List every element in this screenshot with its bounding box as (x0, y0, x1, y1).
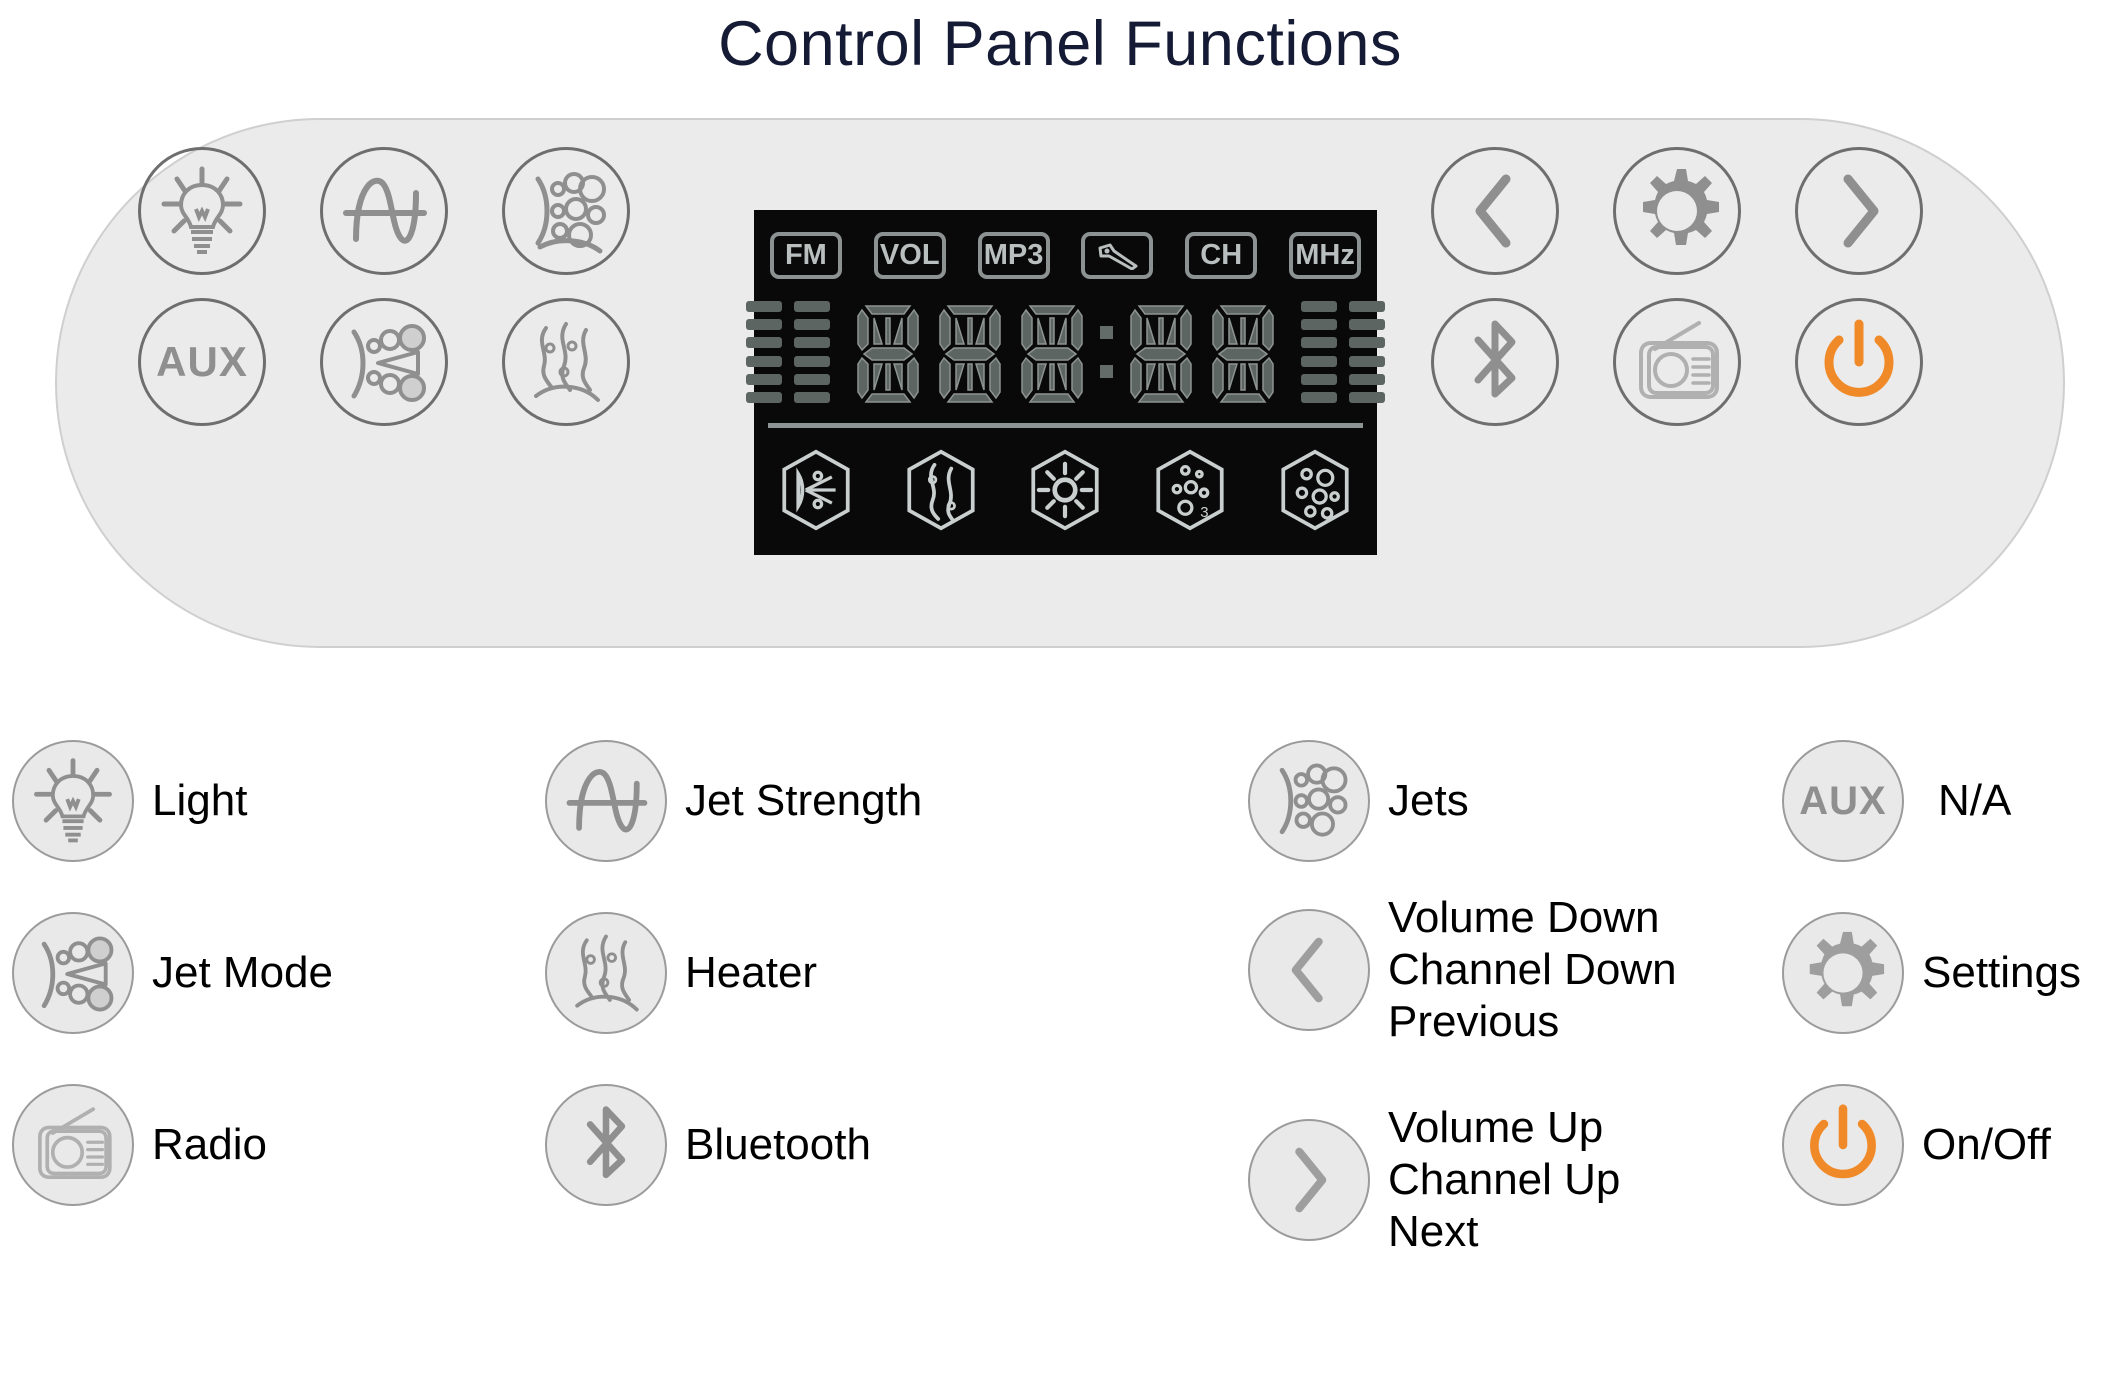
page-title: Control Panel Functions (0, 8, 2120, 80)
gear-icon (1782, 912, 1904, 1034)
lcd-display: FM VOL MP3 CH MHz (754, 210, 1377, 555)
legend-label: Volume Down Channel Down Previous (1388, 892, 1677, 1048)
panel-button-power[interactable] (1795, 298, 1923, 426)
legend-item-volume-down[interactable]: Volume Down Channel Down Previous (1248, 892, 1677, 1048)
chevron-left-icon (1460, 171, 1530, 251)
legend-label: On/Off (1922, 1119, 2051, 1171)
lcd-right-bars (1301, 301, 1385, 403)
chevron-left-icon (1248, 909, 1370, 1031)
aux-text-icon: AUX (1782, 740, 1904, 862)
jet-mode-icon (12, 912, 134, 1034)
lcd-tag-ch: CH (1185, 232, 1257, 279)
lcd-digits (852, 300, 1279, 404)
light-bulb-icon (150, 159, 254, 263)
panel-button-jet-mode[interactable] (320, 298, 448, 426)
radio-icon (12, 1084, 134, 1206)
bluetooth-icon (1460, 316, 1530, 408)
legend-label: N/A (1938, 775, 2011, 827)
panel-button-volume-up[interactable] (1795, 147, 1923, 275)
power-icon (1782, 1084, 1904, 1206)
panel-button-radio[interactable] (1613, 298, 1741, 426)
lcd-tag-tool (1081, 232, 1153, 279)
legend-item-light[interactable]: Light (12, 740, 247, 862)
lcd-heater-icon (899, 448, 983, 532)
heater-waves-icon (514, 310, 618, 414)
radio-icon (1627, 319, 1727, 405)
legend-item-power[interactable]: On/Off (1782, 1084, 2051, 1206)
lcd-jets-icon (1273, 448, 1357, 532)
legend-item-jets[interactable]: Jets (1248, 740, 1469, 862)
lcd-colon (1100, 326, 1113, 378)
legend-item-bluetooth[interactable]: Bluetooth (545, 1084, 871, 1206)
legend-label: Bluetooth (685, 1119, 871, 1171)
legend-label: Light (152, 775, 247, 827)
lcd-digit-3 (1016, 300, 1088, 404)
legend-item-jet-strength[interactable]: Jet Strength (545, 740, 922, 862)
panel-button-aux[interactable]: AUX (138, 298, 266, 426)
panel-button-volume-down[interactable] (1431, 147, 1559, 275)
legend: Light Jet Mode (0, 720, 2120, 1400)
jets-bubbles-icon (514, 159, 618, 263)
lcd-tag-fm: FM (770, 232, 842, 279)
lcd-indicator-row: FM VOL MP3 CH MHz (754, 232, 1377, 279)
lcd-digit-4 (1125, 300, 1197, 404)
jet-strength-wave-icon (332, 159, 436, 263)
panel-button-heater[interactable] (502, 298, 630, 426)
lcd-left-bars (746, 301, 830, 403)
legend-label: Jets (1388, 775, 1469, 827)
lcd-tag-vol: VOL (874, 232, 946, 279)
legend-item-volume-up[interactable]: Volume Up Channel Up Next (1248, 1102, 1620, 1258)
light-bulb-icon (12, 740, 134, 862)
panel-button-jets[interactable] (502, 147, 630, 275)
panel-button-bluetooth[interactable] (1431, 298, 1559, 426)
wrench-icon (1092, 242, 1142, 270)
legend-item-radio[interactable]: Radio (12, 1084, 267, 1206)
legend-label: Heater (685, 947, 817, 999)
control-panel: AUX FM V (55, 118, 2065, 648)
lcd-tag-mhz: MHz (1289, 232, 1361, 279)
power-icon (1815, 318, 1903, 406)
lcd-digit-5 (1207, 300, 1279, 404)
svg-text:3: 3 (1200, 504, 1208, 521)
lcd-light-icon (1023, 448, 1107, 532)
legend-item-settings[interactable]: Settings (1782, 912, 2081, 1034)
legend-item-jet-mode[interactable]: Jet Mode (12, 912, 333, 1034)
gear-icon (1631, 165, 1723, 257)
chevron-right-icon (1248, 1119, 1370, 1241)
legend-item-heater[interactable]: Heater (545, 912, 817, 1034)
aux-label: AUX (1799, 779, 1886, 824)
legend-label: Settings (1922, 947, 2081, 999)
lcd-jet-mode-icon (774, 448, 858, 532)
chevron-right-icon (1824, 171, 1894, 251)
legend-item-aux[interactable]: AUX N/A (1782, 740, 2011, 862)
legend-label: Volume Up Channel Up Next (1388, 1102, 1620, 1258)
panel-button-light[interactable] (138, 147, 266, 275)
jet-strength-wave-icon (545, 740, 667, 862)
lcd-digit-2 (934, 300, 1006, 404)
jets-bubbles-icon (1248, 740, 1370, 862)
lcd-digit-1 (852, 300, 924, 404)
legend-label: Jet Mode (152, 947, 333, 999)
lcd-ozone-icon: 3 (1148, 448, 1232, 532)
bluetooth-icon (545, 1084, 667, 1206)
aux-text-icon: AUX (156, 338, 248, 386)
legend-label: Jet Strength (685, 775, 922, 827)
lcd-tag-mp3: MP3 (978, 232, 1050, 279)
jet-mode-icon (332, 310, 436, 414)
lcd-digit-row (754, 298, 1377, 406)
lcd-mode-icon-row: 3 (754, 448, 1377, 532)
legend-label: Radio (152, 1119, 267, 1171)
heater-waves-icon (545, 912, 667, 1034)
panel-button-settings[interactable] (1613, 147, 1741, 275)
panel-button-jet-strength[interactable] (320, 147, 448, 275)
lcd-divider (768, 423, 1363, 428)
